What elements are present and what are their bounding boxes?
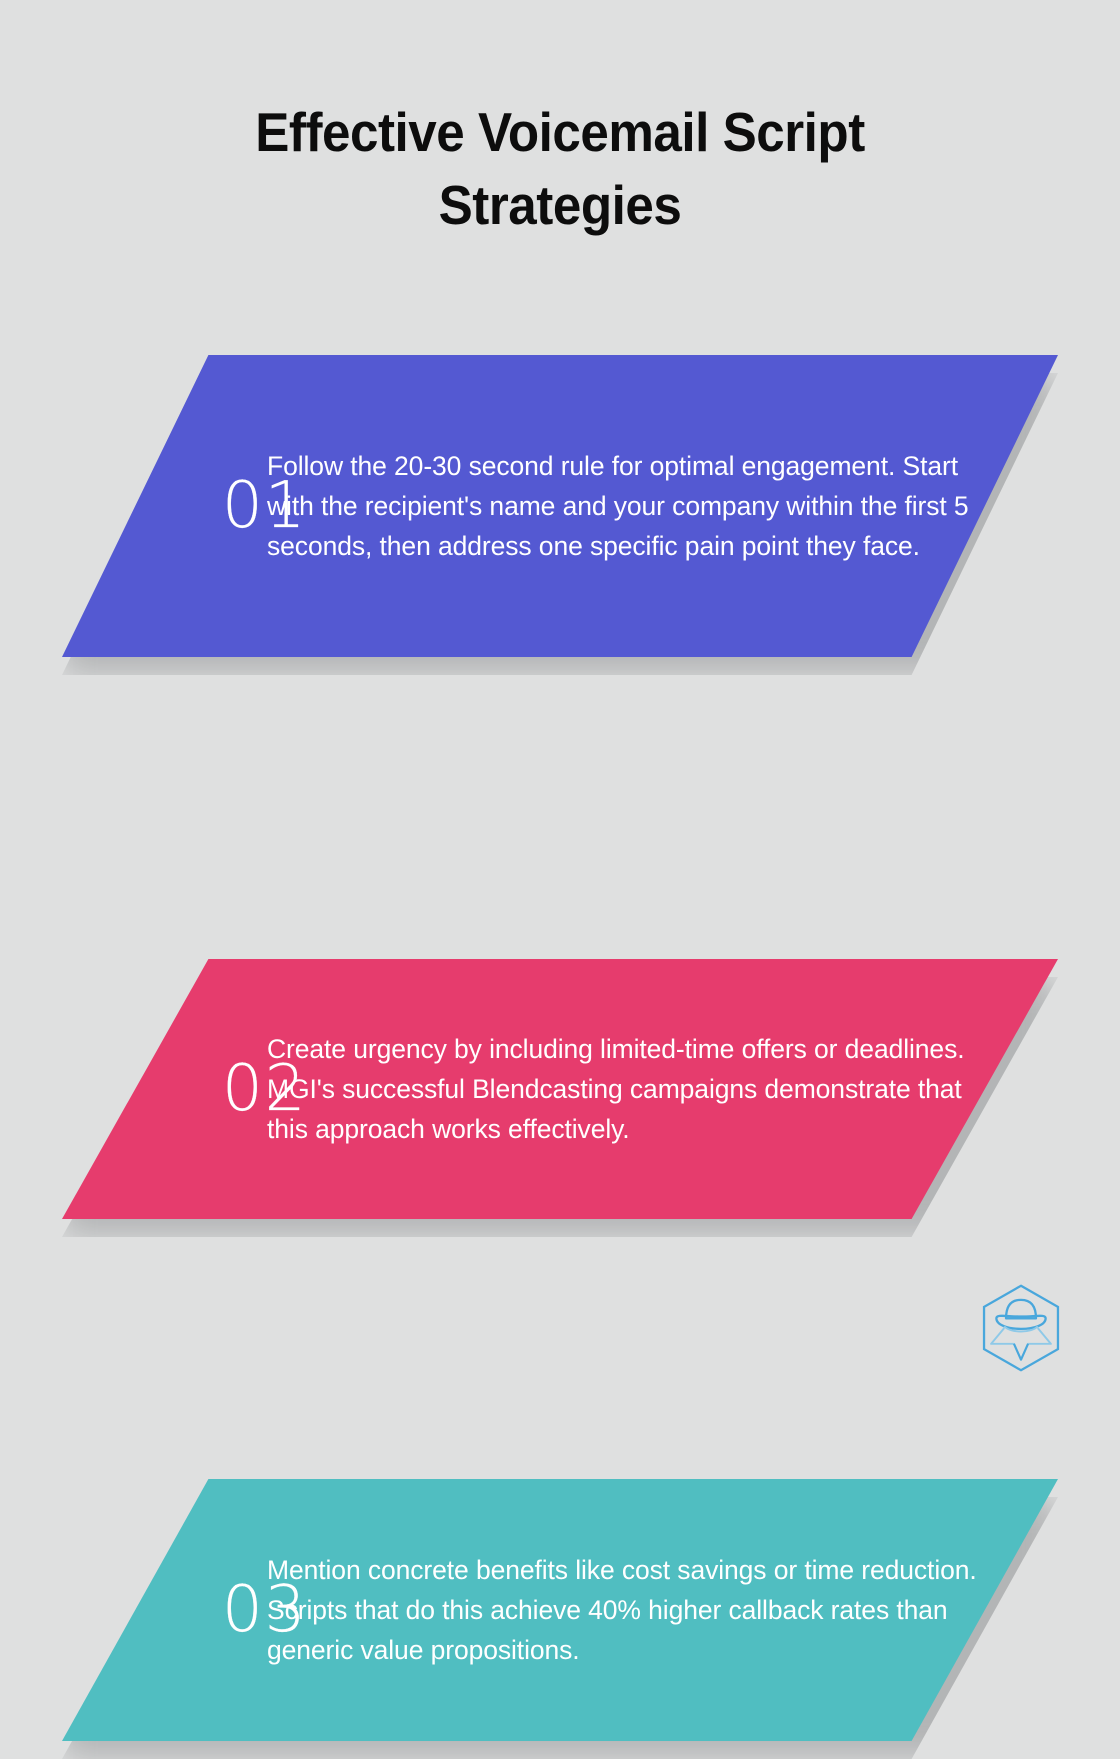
step-1-wrapper: 01 Follow the 20-30 second rule for opti… [62,355,1058,657]
step-number-03: 03 [62,1578,267,1642]
step-text-02: Create urgency by including limited-time… [267,1029,1058,1149]
step-item-02[interactable]: 02 Create urgency by including limited-t… [62,959,1058,1219]
page-title: Effective Voicemail Script Strategies [39,96,1081,242]
step-2-wrapper: 02 Create urgency by including limited-t… [62,959,1058,1219]
step-3-wrapper: 03 Mention concrete benefits like cost s… [62,1479,1058,1741]
step-item-03[interactable]: 03 Mention concrete benefits like cost s… [62,1479,1058,1741]
page-title-container: Effective Voicemail Script Strategies [0,96,1120,242]
step-text-03: Mention concrete benefits like cost savi… [267,1550,1058,1670]
step-number-01: 01 [62,474,267,538]
step-item-01[interactable]: 01 Follow the 20-30 second rule for opti… [62,355,1058,657]
tie-v [1014,1344,1028,1360]
step-text-01: Follow the 20-30 second rule for optimal… [267,446,1058,566]
brand-logo [977,1282,1065,1374]
step-number-02: 02 [62,1057,267,1121]
incognito-hat-hexagon-icon [977,1282,1065,1374]
